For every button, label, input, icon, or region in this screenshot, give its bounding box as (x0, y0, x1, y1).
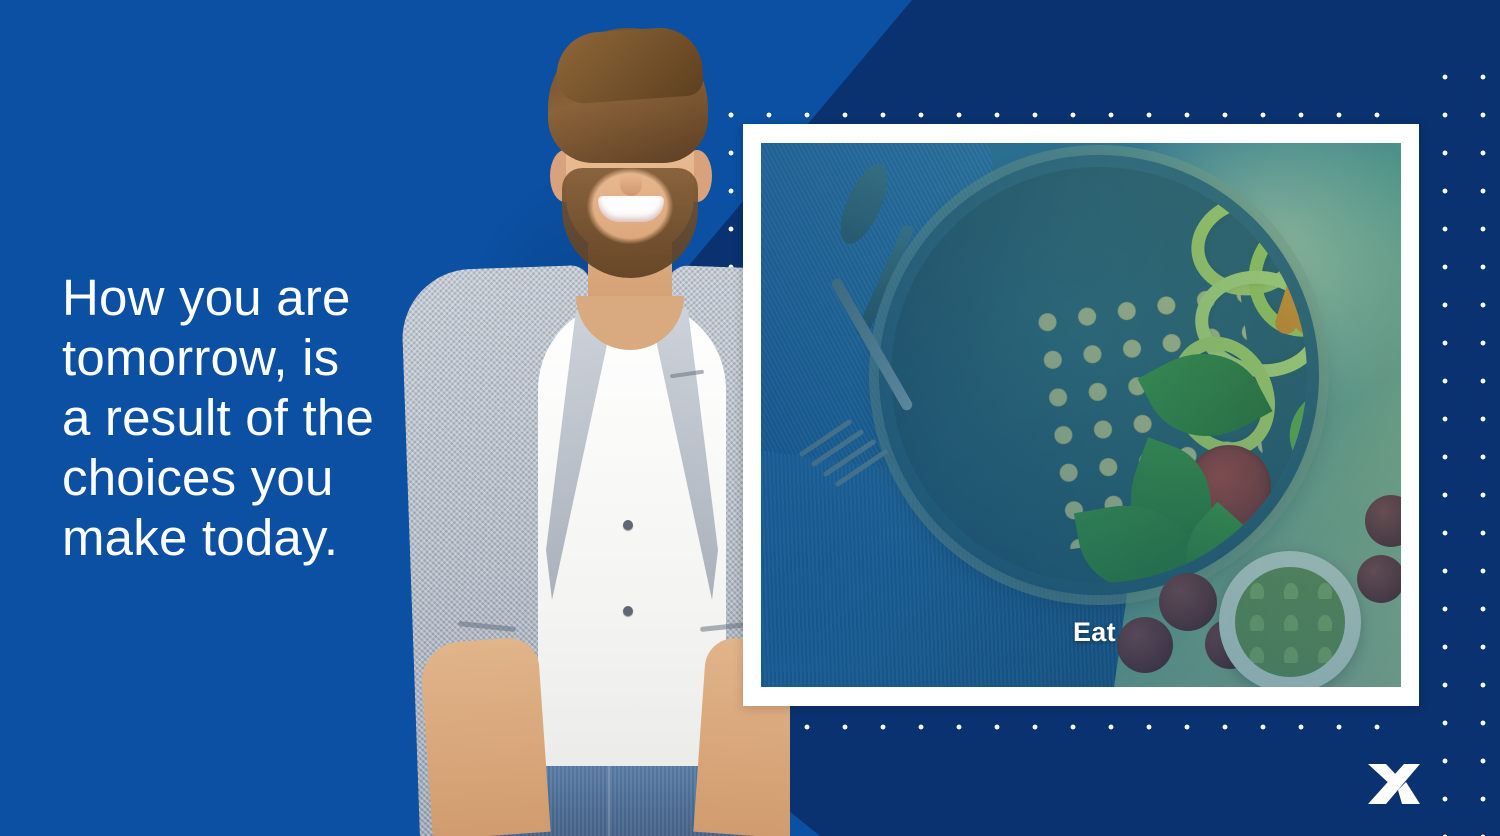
blazer-button-bottom (623, 606, 633, 616)
promo-banner: How you are tomorrow, is a result of the… (0, 0, 1500, 836)
food-photo: Eat (761, 143, 1401, 687)
person-photo (370, 0, 790, 836)
blazer-button-top (623, 520, 633, 530)
photo-color-grade-secondary (761, 143, 1401, 687)
arm-left (419, 636, 550, 836)
nose (620, 160, 642, 196)
jeans-seam (608, 766, 610, 836)
photo-frame: Eat (743, 124, 1419, 706)
photo-caption: Eat (1073, 617, 1116, 648)
smile (598, 196, 664, 222)
x-logo[interactable] (1366, 760, 1422, 808)
